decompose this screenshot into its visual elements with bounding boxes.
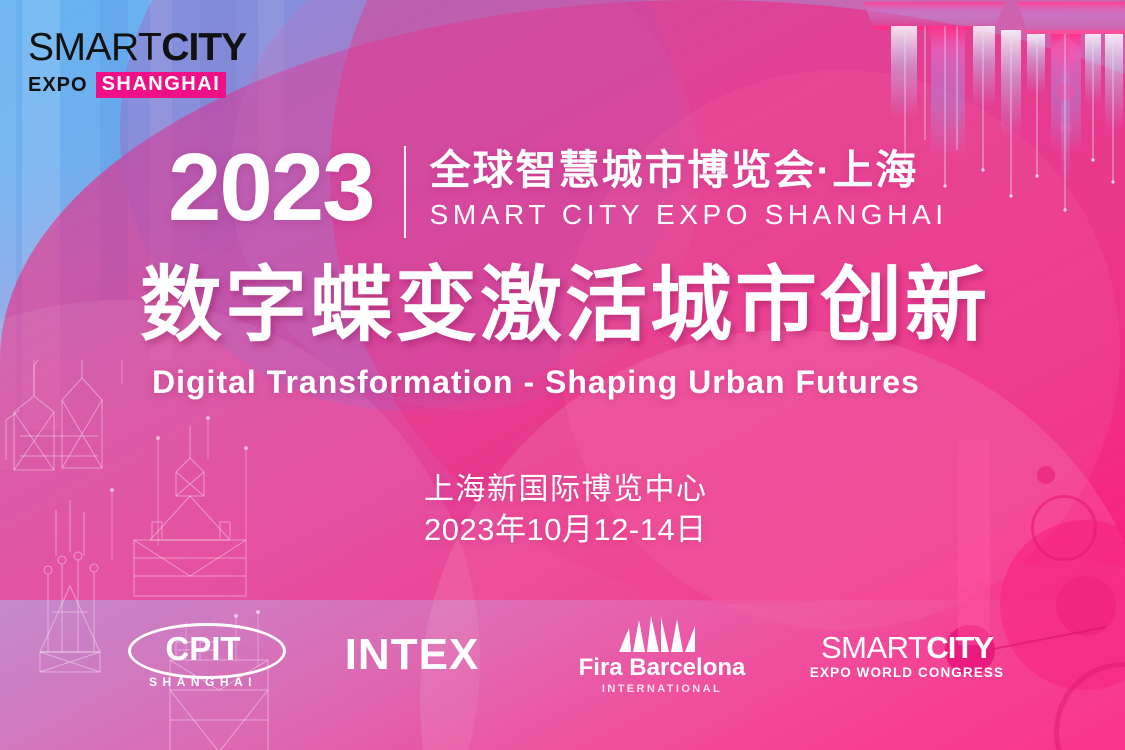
expo-title-cn: 全球智慧城市博览会·上海 (430, 146, 948, 194)
scewc-city-text: CITY (926, 630, 993, 665)
scewc-smart-text: SMART (821, 630, 926, 665)
brand-logo: SMARTCITY EXPO SHANGHAI (28, 28, 246, 98)
fira-fan-svg (603, 616, 721, 652)
scewc-title: SMARTCITY (807, 631, 1007, 664)
fira-sub: INTERNATIONAL (577, 683, 747, 695)
fira-name: Fira Barcelona (577, 654, 747, 682)
headline-row: 2023 全球智慧城市博览会·上海 SMART CITY EXPO SHANGH… (168, 140, 948, 238)
event-venue: 上海新国际博览中心 (424, 470, 708, 510)
brand-logo-line2: EXPO SHANGHAI (28, 72, 246, 98)
scewc-sub: EXPO WORLD CONGRESS (807, 665, 1007, 680)
logo-scewc: SMARTCITY EXPO WORLD CONGRESS (807, 631, 1007, 680)
cpit-sub: SHANGHAI (118, 675, 288, 689)
headline-text-block: 全球智慧城市博览会·上海 SMART CITY EXPO SHANGHAI (430, 140, 948, 230)
logo-fira: Fira Barcelona INTERNATIONAL (577, 616, 747, 695)
brand-city-text: CITY (161, 26, 246, 69)
event-info: 上海新国际博览中心 2023年10月12-14日 (424, 470, 708, 550)
fira-fan-icon (577, 616, 747, 652)
theme-slogan-cn: 数字蝶变激活城市创新 (140, 258, 990, 354)
brand-logo-line1: SMARTCITY (28, 28, 246, 68)
intex-name: INTEX (322, 630, 502, 680)
brand-expo-text: EXPO (28, 74, 88, 97)
cpit-name: CPIT (118, 630, 288, 668)
headline-divider (404, 146, 406, 238)
poster-content: 2023 全球智慧城市博览会·上海 SMART CITY EXPO SHANGH… (0, 0, 1125, 750)
logo-cpit: CPIT SHANGHAI (118, 615, 288, 695)
brand-smart-text: SMART (28, 26, 161, 69)
brand-shanghai-tag: SHANGHAI (96, 72, 227, 98)
partner-logo-strip: CPIT SHANGHAI INTEX Fira Bar (0, 612, 1125, 698)
expo-title-en: SMART CITY EXPO SHANGHAI (430, 200, 948, 230)
logo-intex: INTEX (322, 630, 502, 680)
event-dates: 2023年10月12-14日 (424, 510, 708, 550)
year-heading: 2023 (168, 140, 374, 236)
poster-canvas: SMARTCITY EXPO SHANGHAI 2023 全球智慧城市博览会·上… (0, 0, 1125, 750)
theme-slogan-en: Digital Transformation - Shaping Urban F… (152, 362, 920, 402)
